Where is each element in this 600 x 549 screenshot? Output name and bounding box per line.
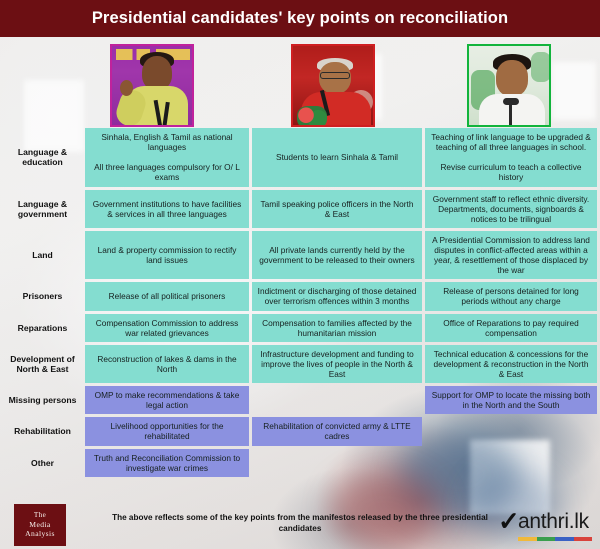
anthri-color-bars xyxy=(518,537,592,541)
row-label: Language & education xyxy=(0,128,85,187)
anthri-bar-3 xyxy=(555,537,574,541)
table-row: LandLand & property commission to rectif… xyxy=(0,231,600,279)
table-cell: Rehabilitation of convicted army & LTTE … xyxy=(252,417,422,445)
footer: The Media Analysis The above reflects so… xyxy=(0,500,600,549)
table-cell: Compensation Commission to address war r… xyxy=(85,314,249,342)
table-cell: Compensation to families affected by the… xyxy=(252,314,422,342)
row-label: Other xyxy=(0,449,85,477)
row-label: Rehabilitation xyxy=(0,417,85,445)
table-row: PrisonersRelease of all political prison… xyxy=(0,282,600,310)
table-cell: Infrastructure development and funding t… xyxy=(252,345,422,383)
anthri-bar-1 xyxy=(518,537,537,541)
table-cell xyxy=(252,386,422,414)
table-cell: Indictment or discharging of those detai… xyxy=(252,282,422,310)
table-cell: Reconstruction of lakes & dams in the No… xyxy=(85,345,249,383)
table-row: Development of North & EastReconstructio… xyxy=(0,345,600,383)
table-row: Missing personsOMP to make recommendatio… xyxy=(0,386,600,414)
table-row: Language & educationSinhala, English & T… xyxy=(0,128,600,187)
table-row: RehabilitationLivelihood opportunities f… xyxy=(0,417,600,445)
table-cell: A Presidential Commission to address lan… xyxy=(425,231,597,279)
table-cell: Release of all political prisoners xyxy=(85,282,249,310)
table-cell: Government institutions to have faciliti… xyxy=(85,190,249,228)
anthri-bar-2 xyxy=(537,537,556,541)
row-label: Prisoners xyxy=(0,282,85,310)
table-cell: OMP to make recommendations & take legal… xyxy=(85,386,249,414)
row-label: Land xyxy=(0,231,85,279)
table-cell: Support for OMP to locate the missing bo… xyxy=(425,386,597,414)
footer-note: The above reflects some of the key point… xyxy=(110,513,490,534)
table-cell: Release of persons detained for long per… xyxy=(425,282,597,310)
check-icon: ✓ xyxy=(498,508,520,534)
table-cell: Students to learn Sinhala & Tamil xyxy=(252,128,422,187)
candidate-photo-2 xyxy=(291,44,375,127)
table-cell: Office of Reparations to pay required co… xyxy=(425,314,597,342)
candidate-photo-1 xyxy=(110,44,194,127)
comparison-table: Language & educationSinhala, English & T… xyxy=(0,128,600,480)
anthri-wordmark: anthri.lk xyxy=(518,509,589,534)
title-bar: Presidential candidates' key points on r… xyxy=(0,0,600,37)
table-cell: Livelihood opportunities for the rehabil… xyxy=(85,417,249,445)
table-row: Language & governmentGovernment institut… xyxy=(0,190,600,228)
table-cell: Land & property commission to rectify la… xyxy=(85,231,249,279)
candidate-photo-3 xyxy=(467,44,551,127)
candidate-photo-strip xyxy=(0,40,600,128)
infographic-root: Presidential candidates' key points on r… xyxy=(0,0,600,549)
row-label: Missing persons xyxy=(0,386,85,414)
table-cell xyxy=(252,449,422,477)
table-cell: Truth and Reconciliation Commission to i… xyxy=(85,449,249,477)
table-cell xyxy=(425,417,597,445)
table-cell: Teaching of link language to be upgraded… xyxy=(425,128,597,187)
page-title: Presidential candidates' key points on r… xyxy=(92,9,508,28)
media-logo-line-3: Analysis xyxy=(25,529,55,538)
table-cell: All private lands currently held by the … xyxy=(252,231,422,279)
row-label: Development of North & East xyxy=(0,345,85,383)
row-label: Reparations xyxy=(0,314,85,342)
media-logo-line-1: The xyxy=(34,511,46,520)
table-cell xyxy=(425,449,597,477)
table-cell: Sinhala, English & Tamil as national lan… xyxy=(85,128,249,187)
table-cell: Tamil speaking police officers in the No… xyxy=(252,190,422,228)
table-cell: Technical education & concessions for th… xyxy=(425,345,597,383)
anthri-logo[interactable]: ✓ anthri.lk xyxy=(498,508,594,542)
media-analysis-logo: The Media Analysis xyxy=(14,504,66,546)
table-row: OtherTruth and Reconciliation Commission… xyxy=(0,449,600,477)
table-cell: Government staff to reflect ethnic diver… xyxy=(425,190,597,228)
table-row: ReparationsCompensation Commission to ad… xyxy=(0,314,600,342)
row-label: Language & government xyxy=(0,190,85,228)
media-logo-line-2: Media xyxy=(29,520,50,529)
anthri-bar-4 xyxy=(574,537,593,541)
